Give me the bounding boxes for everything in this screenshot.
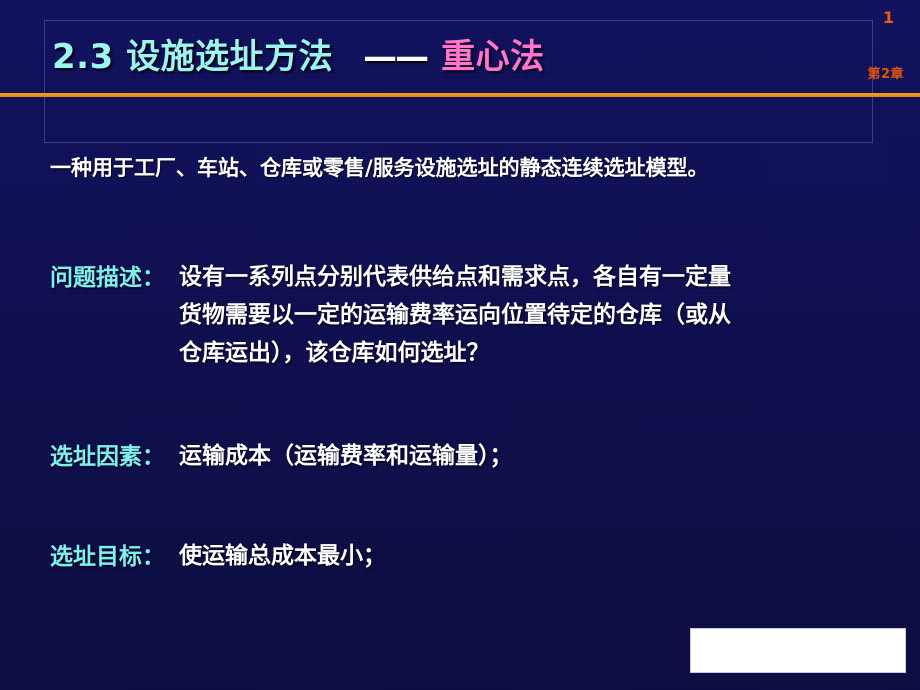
section-label-problem: 问题描述： — [50, 258, 165, 292]
section-body-factors: 运输成本（运输费率和运输量）； — [179, 437, 513, 475]
section-body-objective: 使运输总成本最小； — [179, 537, 386, 575]
title-subtitle-text: 重心法 — [441, 29, 545, 78]
section-label-objective: 选址目标： — [50, 537, 165, 571]
section-body-problem: 设有一系列点分别代表供给点和需求点，各自有一定量 货物需要以一定的运输费率运向位… — [179, 258, 731, 372]
footer-page-box — [690, 628, 906, 673]
section-body-line: 设有一系列点分别代表供给点和需求点，各自有一定量 — [179, 258, 731, 296]
chapter-marker: 第2章 — [867, 63, 904, 82]
section-body-line: 使运输总成本最小； — [179, 537, 386, 575]
section-location-objective: 选址目标： 使运输总成本最小； — [50, 537, 890, 575]
section-location-factors: 选址因素： 运输成本（运输费率和运输量）； — [50, 437, 890, 475]
title-dash-separator: —— — [363, 37, 427, 77]
title-main-text: 2.3 设施选址方法 — [52, 29, 333, 78]
slide-canvas: 2.3 设施选址方法 —— 重心法 第2章 一种用于工厂、车站、仓库或零售/服务… — [0, 0, 920, 690]
section-label-factors: 选址因素： — [50, 437, 165, 471]
section-body-line: 仓库运出），该仓库如何选址？ — [179, 334, 731, 372]
header-accent-rule — [0, 93, 920, 97]
page-number: 1 — [883, 8, 894, 27]
section-body-line: 货物需要以一定的运输费率运向位置待定的仓库（或从 — [179, 296, 731, 334]
section-problem-description: 问题描述： 设有一系列点分别代表供给点和需求点，各自有一定量 货物需要以一定的运… — [50, 258, 890, 372]
section-body-line: 运输成本（运输费率和运输量）； — [179, 437, 513, 475]
page-title: 2.3 设施选址方法 —— 重心法 — [52, 29, 545, 78]
intro-sentence: 一种用于工厂、车站、仓库或零售/服务设施选址的静态连续选址模型。 — [50, 152, 709, 182]
